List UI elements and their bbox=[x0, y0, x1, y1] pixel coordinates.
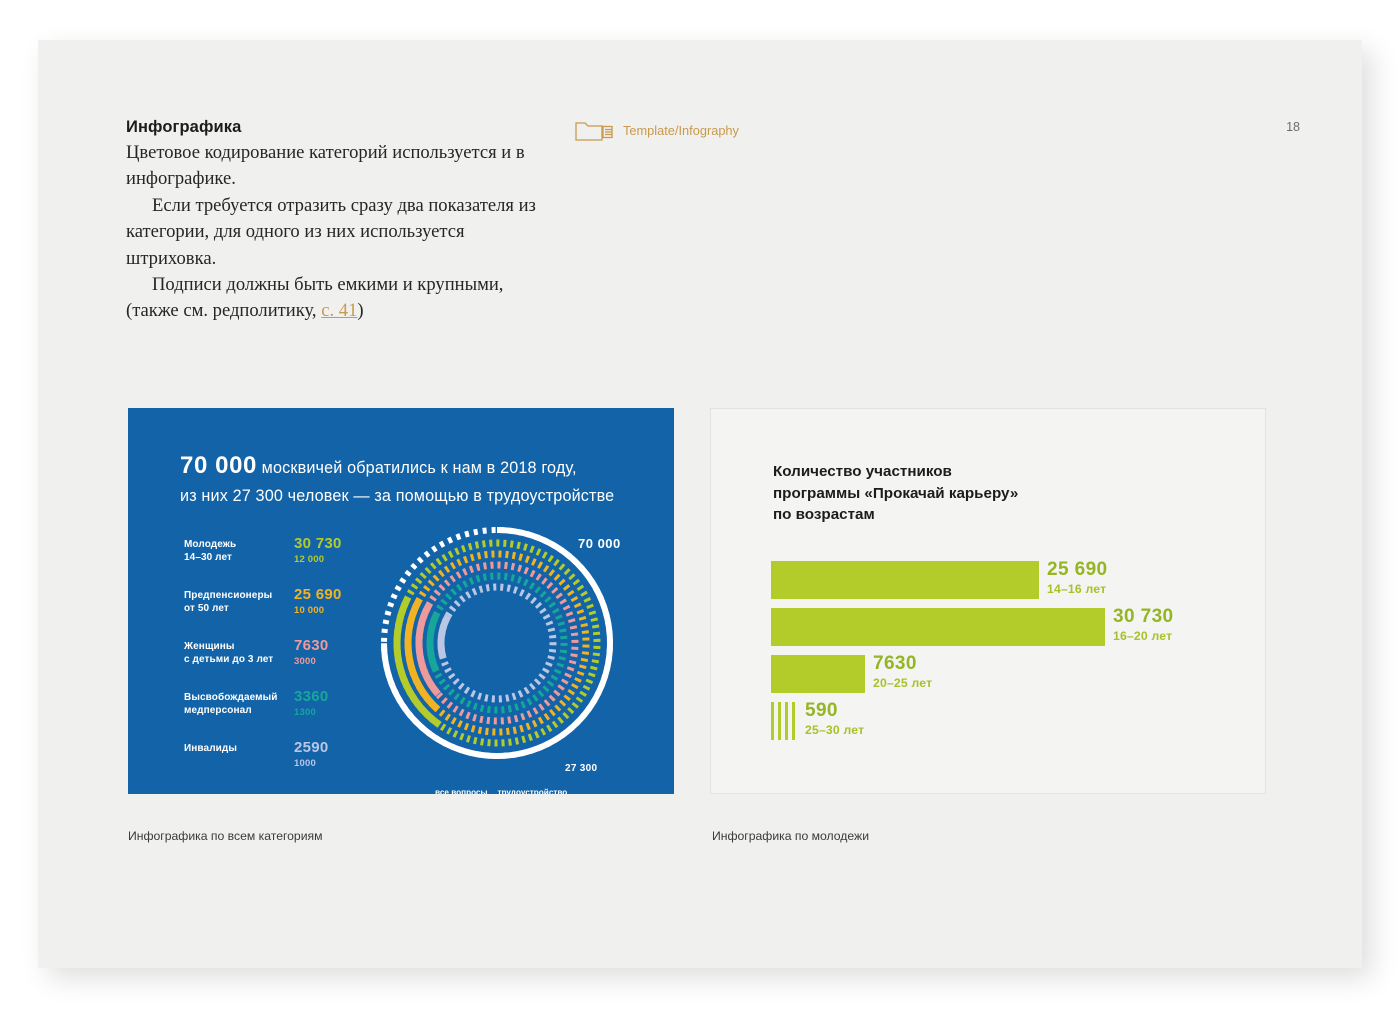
bar-chart: 25 690 14–16 лет 30 730 16–20 лет 7630 2… bbox=[771, 561, 1231, 749]
category-legend: Молодежь14–30 лет 30 730 12 000 Предпенс… bbox=[184, 536, 359, 791]
bar-label: 30 730 16–20 лет bbox=[1113, 606, 1174, 643]
legend-item-total: 3360 bbox=[294, 688, 329, 705]
legend-item-total: 2590 bbox=[294, 739, 329, 756]
bar-fill-hatched bbox=[771, 702, 796, 740]
legend-item: Высвобождаемыймедперсонал 3360 1300 bbox=[184, 689, 359, 740]
legend-label-line1: Женщины bbox=[184, 641, 235, 652]
legend-label-line2: с детьми до 3 лет bbox=[184, 654, 273, 665]
donut-legend-item-employment: трудоустройство bbox=[498, 788, 568, 794]
intro-paragraph-3: Подписи должны быть емкими и крупными, (… bbox=[126, 272, 556, 325]
legend-item-total: 7630 bbox=[294, 637, 329, 654]
legend-item: Молодежь14–30 лет 30 730 12 000 bbox=[184, 536, 359, 587]
donut-chart bbox=[374, 520, 620, 766]
blue-headline-rest: москвичей обратились к нам в 2018 году, bbox=[257, 459, 577, 477]
intro-text: Цветовое кодирование категорий используе… bbox=[126, 140, 556, 325]
page-title: Инфографика bbox=[126, 118, 241, 137]
legend-item-total: 25 690 bbox=[294, 586, 342, 603]
youth-title-line2: программы «Прокачай карьеру» bbox=[773, 485, 1018, 502]
donut-legend-label: трудоустройство bbox=[498, 788, 568, 794]
bar-value: 25 690 bbox=[1047, 559, 1108, 581]
legend-label-line2: от 50 лет bbox=[184, 603, 229, 614]
legend-label-line2: 14–30 лет bbox=[184, 552, 232, 563]
legend-label-line1: Молодежь bbox=[184, 539, 236, 550]
infographic-all-categories: 70 000 москвичей обратились к нам в 2018… bbox=[128, 408, 674, 794]
legend-item: Инвалиды 2590 1000 bbox=[184, 740, 359, 791]
legend-item-sub: 1000 bbox=[294, 758, 316, 769]
bar-value: 30 730 bbox=[1113, 606, 1174, 628]
bar-row: 7630 20–25 лет bbox=[771, 655, 1231, 693]
donut-legend-item-all: все вопросы bbox=[435, 788, 488, 794]
donut-outer-label: 70 000 bbox=[578, 536, 621, 551]
bar-category: 25–30 лет bbox=[805, 723, 864, 737]
document-page: Инфографика Цветовое кодирование категор… bbox=[38, 40, 1362, 968]
legend-item-sub: 1300 bbox=[294, 707, 316, 718]
bar-fill bbox=[771, 561, 1039, 599]
bar-label: 7630 20–25 лет bbox=[873, 653, 932, 690]
legend-item-sub: 12 000 bbox=[294, 554, 324, 565]
legend-item-sub: 10 000 bbox=[294, 605, 324, 616]
legend-item-label: Инвалиды bbox=[184, 742, 300, 755]
donut-legend-label: все вопросы bbox=[435, 788, 488, 794]
breadcrumb-label: Template/Infography bbox=[623, 123, 739, 138]
legend-item-label: Женщиныс детьми до 3 лет bbox=[184, 640, 300, 666]
youth-chart-title: Количество участников программы «Прокача… bbox=[773, 461, 1018, 526]
page-number: 18 bbox=[1286, 120, 1300, 134]
intro-paragraph-3-text: Подписи должны быть емкими и крупными, (… bbox=[126, 274, 503, 321]
bar-label: 25 690 14–16 лет bbox=[1047, 559, 1108, 596]
legend-label-line1: Инвалиды bbox=[184, 743, 237, 754]
legend-item-label: Предпенсионерыот 50 лет bbox=[184, 589, 300, 615]
caption-youth: Инфографика по молодежи bbox=[712, 829, 869, 843]
page-41-link[interactable]: с. 41 bbox=[321, 300, 357, 321]
intro-paragraph-1: Цветовое кодирование категорий используе… bbox=[126, 140, 556, 193]
bar-category: 14–16 лет bbox=[1047, 582, 1108, 596]
legend-item-label: Высвобождаемыймедперсонал bbox=[184, 691, 300, 717]
legend-label-line1: Предпенсионеры bbox=[184, 590, 272, 601]
bar-category: 20–25 лет bbox=[873, 676, 932, 690]
breadcrumb[interactable]: Template/Infography bbox=[575, 120, 739, 141]
bar-value: 590 bbox=[805, 700, 864, 722]
intro-paragraph-2: Если требуется отразить сразу два показа… bbox=[126, 193, 556, 272]
bar-row: 590 25–30 лет bbox=[771, 702, 1231, 740]
caption-all-categories: Инфографика по всем категориям bbox=[128, 829, 323, 843]
legend-item: Предпенсионерыот 50 лет 25 690 10 000 bbox=[184, 587, 359, 638]
legend-item-sub: 3000 bbox=[294, 656, 316, 667]
intro-paragraph-3-tail: ) bbox=[357, 300, 363, 321]
legend-item-label: Молодежь14–30 лет bbox=[184, 538, 300, 564]
bar-row: 30 730 16–20 лет bbox=[771, 608, 1231, 646]
donut-inner-label: 27 300 bbox=[565, 763, 597, 774]
infographic-youth: Количество участников программы «Прокача… bbox=[710, 408, 1266, 794]
bar-value: 7630 bbox=[873, 653, 932, 675]
blue-headline: 70 000 москвичей обратились к нам в 2018… bbox=[180, 448, 640, 508]
bar-fill bbox=[771, 608, 1105, 646]
donut-legend: все вопросы трудоустройство bbox=[435, 788, 567, 794]
legend-label-line2: медперсонал bbox=[184, 705, 252, 716]
legend-label-line1: Высвобождаемый bbox=[184, 692, 278, 703]
legend-item: Женщиныс детьми до 3 лет 7630 3000 bbox=[184, 638, 359, 689]
blue-headline-figure: 70 000 bbox=[180, 452, 257, 479]
bar-row: 25 690 14–16 лет bbox=[771, 561, 1231, 599]
youth-title-line3: по возрастам bbox=[773, 506, 875, 523]
folder-document-icon bbox=[575, 120, 615, 141]
legend-item-total: 30 730 bbox=[294, 535, 342, 552]
blue-headline-line2: из них 27 300 человек — за помощью в тру… bbox=[180, 487, 614, 505]
bar-fill bbox=[771, 655, 865, 693]
bar-category: 16–20 лет bbox=[1113, 629, 1174, 643]
bar-label: 590 25–30 лет bbox=[805, 700, 864, 737]
youth-title-line1: Количество участников bbox=[773, 463, 952, 480]
